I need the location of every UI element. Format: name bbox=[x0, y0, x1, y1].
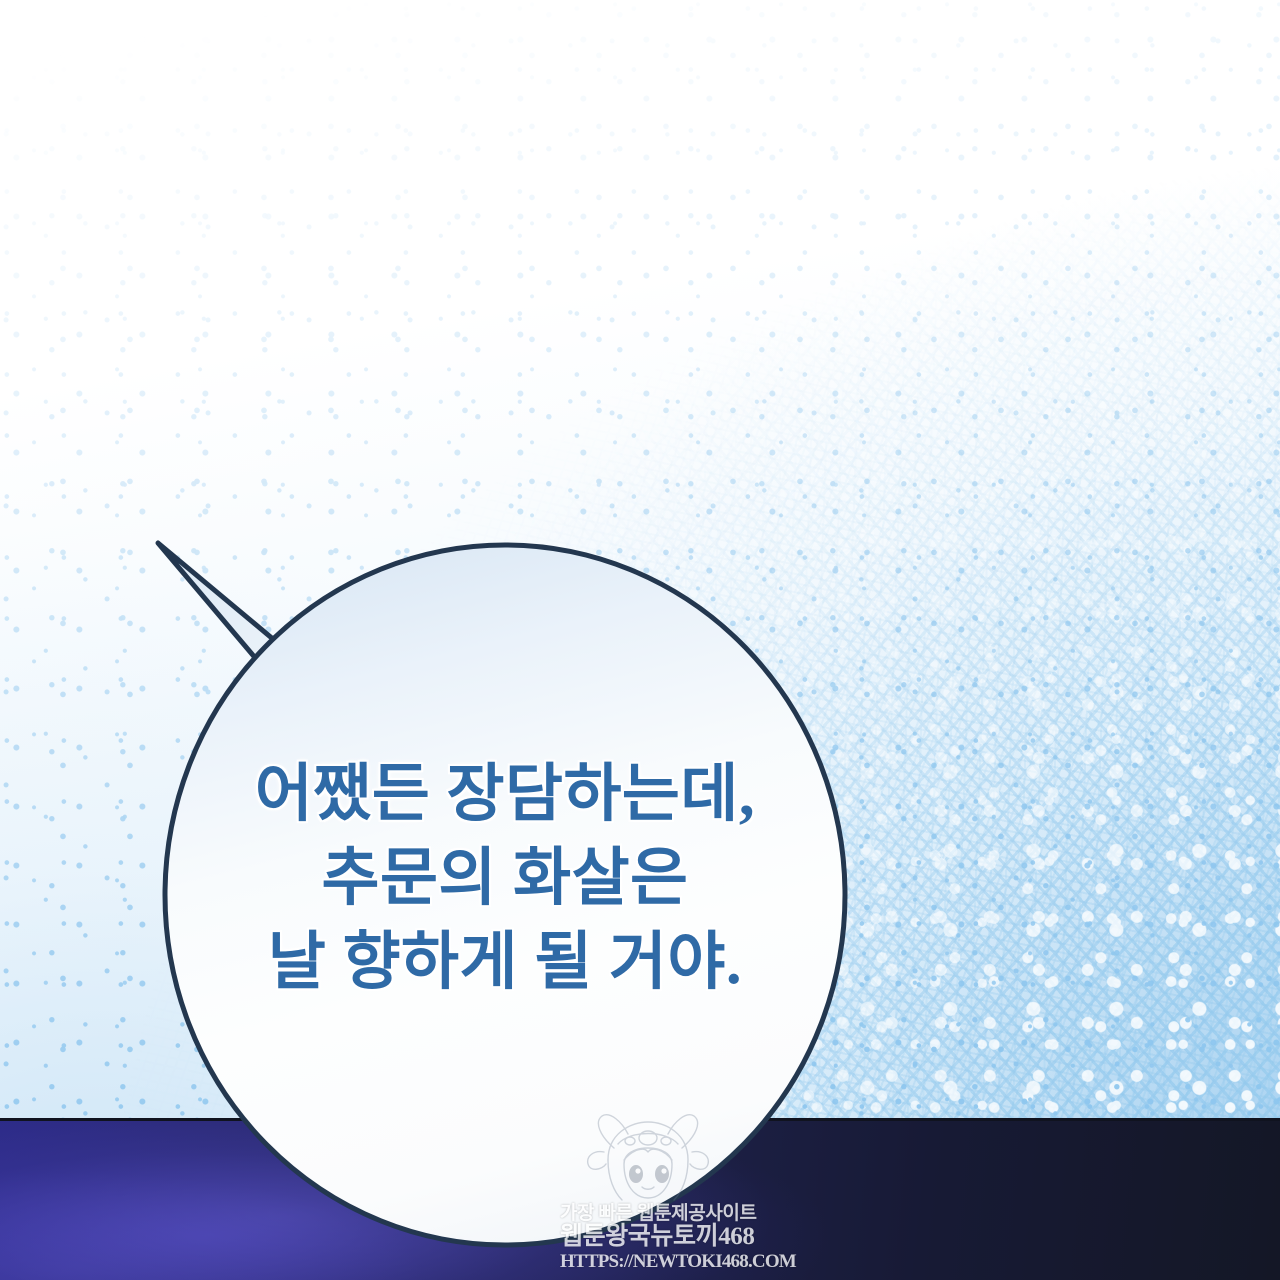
webtoon-panel: 어쨌든 장담하는데, 추문의 화살은 날 향하게 될 거야. bbox=[0, 0, 1280, 1280]
speech-bubble bbox=[0, 0, 1280, 1280]
dialogue-line-3: 날 향하게 될 거야. bbox=[180, 920, 830, 1004]
dialogue-text: 어쨌든 장담하는데, 추문의 화살은 날 향하게 될 거야. bbox=[180, 752, 830, 1004]
dialogue-line-1: 어쨌든 장담하는데, bbox=[180, 752, 830, 836]
dialogue-line-2: 추문의 화살은 bbox=[180, 836, 830, 920]
speech-bubble-shape bbox=[0, 0, 1280, 1280]
